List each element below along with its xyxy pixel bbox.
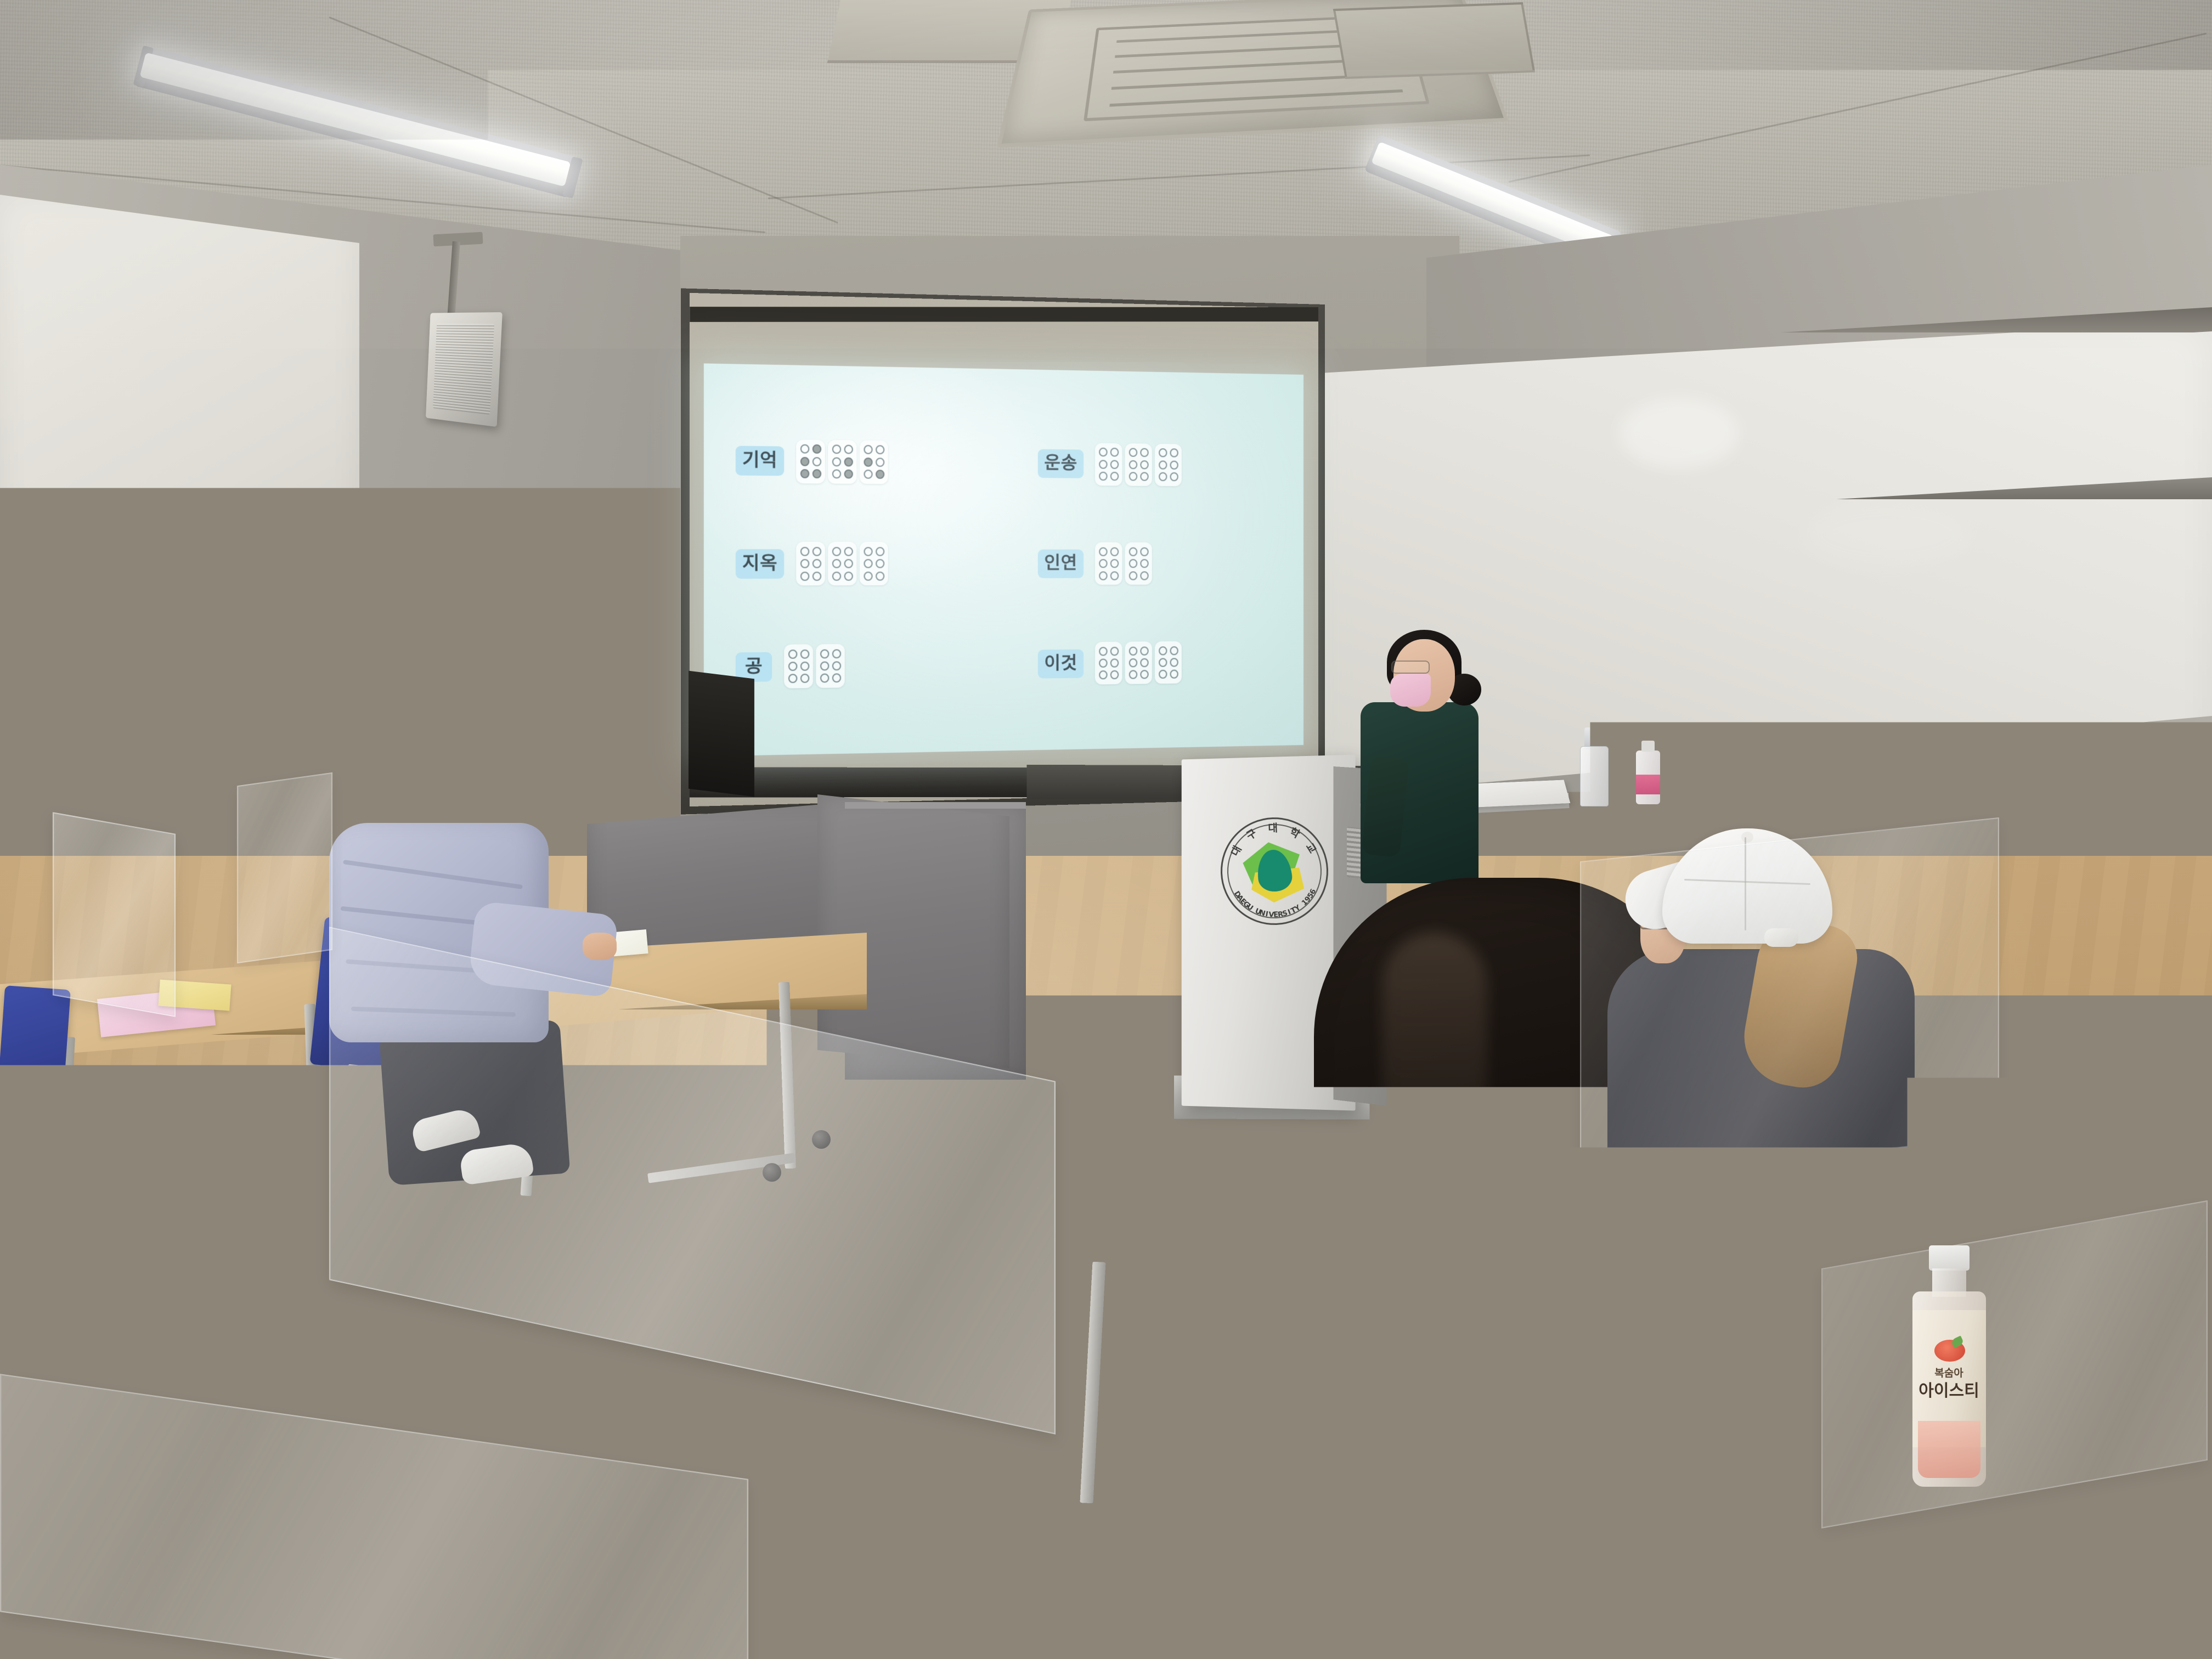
braille-cell [784, 644, 813, 688]
braille-row-ball: 공 [736, 642, 1013, 689]
braille-dot [1140, 460, 1148, 469]
braille-dot [812, 559, 821, 568]
braille-dot [1128, 460, 1137, 469]
logo-circular-text: 대구대학교DAEGU UNIVERSITY 1956 [1221, 817, 1329, 926]
braille-dot [1128, 548, 1137, 556]
cardboard-box [565, 759, 637, 795]
braille-dot [1099, 460, 1108, 469]
braille-dot [1140, 571, 1148, 580]
braille-dot [1170, 460, 1178, 469]
braille-cell [1155, 641, 1182, 684]
braille-dot [1128, 559, 1137, 568]
braille-dot [800, 674, 809, 683]
braille-dot [1140, 548, 1148, 556]
bottle-cap [1929, 1245, 1970, 1271]
braille-dot [1170, 472, 1178, 481]
student-center-hair-highlight [1383, 933, 1487, 1306]
braille-dot [1170, 658, 1178, 667]
braille-dot [1170, 646, 1178, 655]
braille-dot [800, 547, 809, 556]
braille-dot [832, 649, 840, 658]
wall-speaker [426, 312, 503, 427]
chair-caster [77, 1328, 95, 1346]
braille-dot [1159, 460, 1167, 469]
braille-dot [1140, 658, 1148, 667]
braille-dot [1159, 646, 1167, 655]
braille-dot [1099, 559, 1108, 568]
braille-dot [800, 662, 809, 671]
braille-dot [1159, 670, 1167, 679]
braille-dot [876, 572, 884, 581]
braille-dot [800, 469, 809, 478]
logo-char: 대 [1227, 843, 1244, 858]
braille-cell [1155, 444, 1182, 487]
braille-dot [1170, 670, 1178, 679]
braille-cell-group [784, 644, 844, 689]
desk-caster [55, 1218, 74, 1237]
braille-dot [876, 470, 884, 479]
braille-dot [1099, 571, 1108, 580]
braille-dot [864, 559, 872, 568]
braille-row-relation: 인연 [1013, 543, 1276, 585]
braille-dot [812, 572, 821, 581]
braille-dot [800, 444, 809, 454]
braille-dot [832, 572, 840, 581]
braille-dot [864, 470, 872, 479]
braille-dot [1140, 472, 1148, 481]
braille-dot [800, 650, 809, 659]
braille-dot [1099, 448, 1108, 456]
braille-cell [860, 542, 888, 585]
braille-word-label: 운송 [1038, 449, 1084, 478]
student-left-hand [583, 933, 617, 960]
braille-dot [832, 457, 840, 466]
braille-dot [1110, 559, 1118, 568]
braille-dot [1099, 670, 1108, 680]
braille-dot [864, 445, 872, 455]
partition-top-edge [845, 802, 1026, 809]
braille-cell [1095, 443, 1122, 486]
braille-dot [864, 458, 872, 467]
acrylic-divider [237, 772, 332, 963]
braille-cell [1095, 642, 1122, 685]
av-equipment [689, 671, 754, 797]
braille-dot [1099, 472, 1108, 481]
braille-dot [832, 445, 840, 454]
braille-dot [788, 674, 797, 684]
braille-dot [1128, 646, 1137, 655]
braille-dot [1140, 670, 1148, 679]
braille-row-this: 이것 [1013, 641, 1276, 686]
braille-dot [1110, 658, 1118, 667]
chair-caster [5, 1322, 24, 1341]
braille-dot [820, 649, 828, 658]
braille-dot [864, 572, 872, 581]
braille-dot [1128, 658, 1137, 667]
braille-cell [1095, 543, 1122, 585]
iced-tea-bottle[interactable]: 복숨아 아이스티 [1909, 1245, 1989, 1487]
hand-sanitizer-bottle[interactable] [1580, 746, 1609, 806]
whiteboard-left [0, 195, 359, 678]
braille-cell [1125, 641, 1152, 684]
logo-char: 대 [1268, 820, 1278, 835]
braille-dot [1110, 472, 1118, 481]
braille-dot [1110, 548, 1118, 556]
speaker-grill [433, 324, 494, 415]
braille-dot [876, 547, 884, 556]
braille-dot [844, 470, 853, 479]
braille-dot [800, 457, 809, 466]
braille-row-hell: 지옥 [736, 542, 1013, 586]
braille-row-memory: 기억 [736, 439, 1013, 485]
braille-dot [800, 559, 809, 568]
drink-bottle-small[interactable] [1636, 751, 1660, 804]
braille-cell [816, 644, 844, 688]
braille-dot [876, 458, 884, 467]
braille-cell-group [1095, 443, 1182, 486]
braille-cell [860, 440, 888, 484]
desk-caster [307, 1174, 326, 1193]
braille-dot [876, 445, 884, 455]
braille-dot [1140, 559, 1148, 568]
braille-dot [1128, 472, 1137, 481]
braille-word-label: 지옥 [736, 549, 784, 579]
acrylic-divider [53, 812, 176, 1017]
braille-dot [800, 572, 809, 581]
braille-dot [844, 445, 853, 454]
braille-dot [1140, 448, 1148, 457]
hvac-box [1333, 2, 1536, 79]
braille-cell [796, 542, 825, 586]
braille-dot [1159, 449, 1167, 458]
braille-cell-group [1095, 641, 1182, 685]
braille-dot [1159, 658, 1167, 667]
projection-screen-top-bar [690, 307, 1318, 322]
braille-dot [812, 457, 821, 466]
braille-dot [832, 661, 840, 670]
braille-dot [1159, 472, 1167, 481]
braille-dot [844, 559, 853, 568]
glasses-icon [452, 808, 488, 820]
braille-dot [820, 674, 828, 683]
braille-word-label: 인연 [1038, 549, 1084, 578]
braille-dot [1110, 647, 1118, 656]
braille-dot [832, 470, 840, 479]
braille-dot [820, 662, 828, 671]
braille-dot [1099, 647, 1108, 656]
chair[interactable] [0, 985, 71, 1132]
braille-dot [1110, 460, 1118, 469]
braille-dot [832, 547, 840, 556]
logo-char: 학 [1288, 823, 1303, 841]
classroom-scene: 기억 운송 지옥 인연 공 이것 [0, 0, 2212, 1659]
braille-cell [1125, 543, 1152, 585]
braille-dot [844, 547, 853, 556]
acrylic-divider [1580, 817, 1999, 1182]
braille-dot [832, 559, 840, 568]
braille-cell [1125, 443, 1152, 486]
braille-dot [844, 572, 853, 581]
logo-char: 교 [1303, 840, 1321, 856]
projected-slide: 기억 운송 지옥 인연 공 이것 [704, 363, 1304, 756]
braille-dot [844, 457, 853, 466]
braille-dot [812, 444, 821, 454]
bottle-liquid [1918, 1421, 1980, 1478]
braille-dot [1110, 448, 1118, 457]
braille-dot [1128, 670, 1137, 679]
braille-dot [1099, 659, 1108, 668]
braille-dot [1140, 646, 1148, 655]
braille-cell-group [796, 542, 888, 586]
braille-cell-group [1095, 543, 1152, 585]
braille-dot [876, 559, 884, 568]
braille-dot [1128, 571, 1137, 580]
braille-word-label: 기억 [736, 446, 784, 476]
braille-dot [1128, 448, 1137, 457]
bottle-name-text: 아이스티 [1909, 1377, 1989, 1401]
braille-dot [832, 674, 840, 683]
braille-dot [1110, 571, 1118, 580]
face-mask [1390, 674, 1431, 707]
braille-dot [812, 469, 821, 478]
braille-cell-group [796, 439, 888, 484]
braille-dot [788, 662, 797, 671]
braille-dot [812, 547, 821, 556]
slide-grid: 기억 운송 지옥 인연 공 이것 [704, 363, 1304, 756]
braille-cell [828, 440, 856, 484]
braille-dot [1099, 548, 1108, 556]
glasses-icon [1391, 661, 1430, 674]
braille-row-transport: 운송 [1013, 442, 1276, 487]
braille-word-label: 이것 [1038, 649, 1084, 678]
braille-dot [1170, 449, 1178, 458]
logo-char: 구 [1243, 825, 1259, 843]
braille-dot [788, 650, 797, 659]
braille-cell [828, 542, 856, 586]
braille-dot [1110, 670, 1118, 679]
braille-dot [864, 547, 872, 556]
braille-cell [796, 439, 825, 483]
